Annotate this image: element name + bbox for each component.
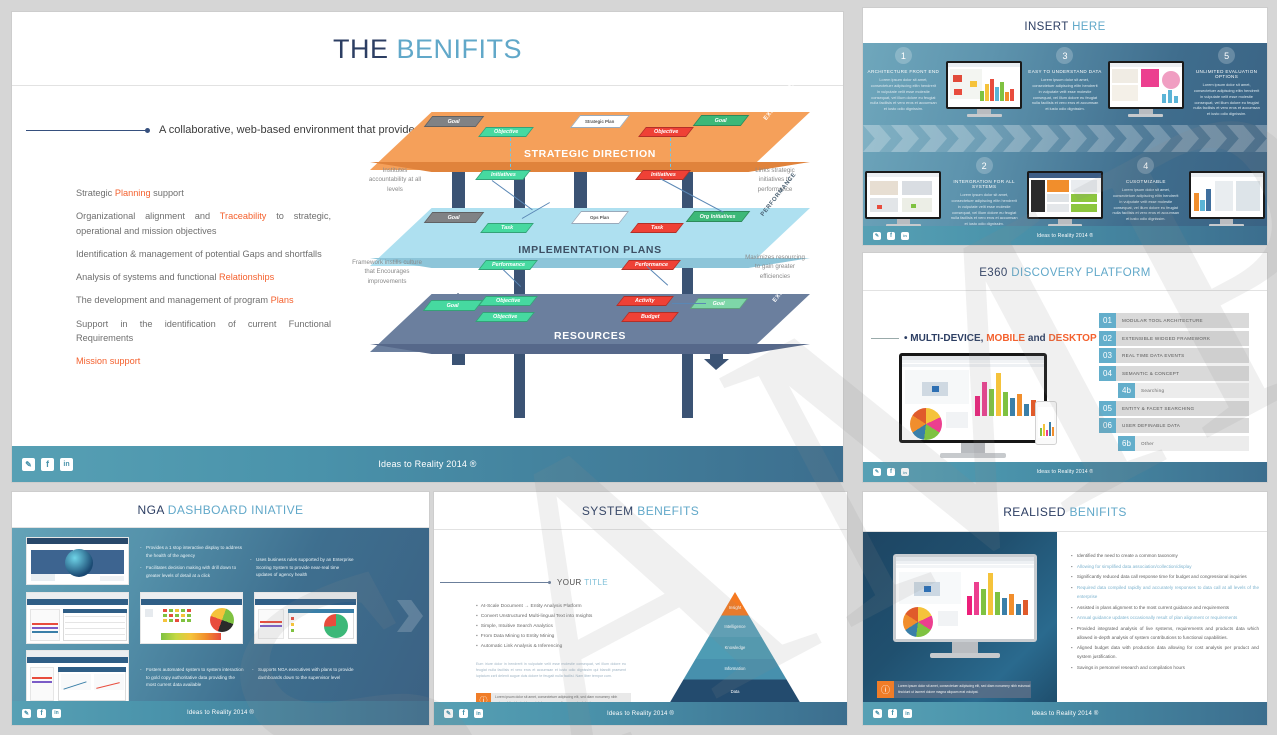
dashboard-screenshot-5 <box>26 650 129 704</box>
pyramid-label-data: Data <box>669 689 801 694</box>
footer-text: Ideas to Reality 2014 ® <box>434 711 847 717</box>
chip-initiatives-2: Initiatives <box>635 170 691 180</box>
list-item: Provides a 1 stop interactive display to… <box>140 544 242 559</box>
feature-list: 01MODULAR TOOL ARCHITECTURE 02EXTENSIBLE… <box>1099 313 1249 453</box>
chevron-icon <box>1003 125 1031 152</box>
chip-budget: Budget <box>621 312 679 322</box>
chevron-icon <box>1171 125 1199 152</box>
diagram-note-framework: Framework instills culture that Encourag… <box>350 258 424 286</box>
cell-body: Lorem ipsum dolor sit amet, consectetuer… <box>950 192 1018 227</box>
slide-insert-here[interactable]: INSERT HERE 1 ARCHITECTURE FRONT END Lor… <box>863 8 1267 245</box>
e360-body: • MULTI-DEVICE, MOBILE and DESKTOP Ready… <box>863 291 1267 479</box>
insert-cell-5: 5 UNLIMITED EVALUATION OPTIONS Lorem ips… <box>1186 43 1267 125</box>
footer-text: Ideas to Reality 2014 ® <box>863 233 1267 239</box>
lead-text: YOUR TITLE <box>557 578 608 587</box>
pyramid-label-knowledge: Knowledge <box>669 645 801 650</box>
lead-line <box>871 338 899 339</box>
step-number-badge: 3 <box>1056 47 1073 64</box>
main-slide-body: A collaborative, web-based environment t… <box>12 86 843 450</box>
list-item: Assisted in plans alignment to the most … <box>1071 604 1259 613</box>
chip-initiatives-1: Initiatives <box>475 170 531 180</box>
cell-heading: CUSOTMIZABLE <box>1126 179 1166 184</box>
system-benefits-body: YOUR TITLE At-Scale Document → Entity An… <box>434 530 847 716</box>
chevron-icon <box>1143 125 1171 152</box>
list-item[interactable]: 04SEMANTIC & CONCEPT <box>1099 366 1249 381</box>
list-item: Organizational alignment and Traceabilit… <box>76 209 331 238</box>
chip-goal-4: Goal <box>423 300 484 311</box>
list-item-sub: Allowing for simplified data association… <box>1071 563 1259 572</box>
list-item: Savings in personnel research and compil… <box>1071 664 1259 673</box>
insert-row-bottom: 2 INTERGRATION FOR ALL SYSTEMS Lorem ips… <box>863 153 1267 235</box>
callout-box: ⓘ Lorem ipsum dolor sit amet, consectetu… <box>877 681 1031 698</box>
list-item: Convert Unstructured Multi-lingual Text … <box>476 612 626 622</box>
list-item: Automatic Link Analysis & Inferencing <box>476 642 626 652</box>
slide-nga-dashboard-iniative[interactable]: NGA DASHBOARD INIATIVE Provides a 1 stop… <box>12 492 429 725</box>
strategy-tier-diagram: STRATEGIC DIRECTION EXPECTATIONS Goal Ob… <box>342 98 834 448</box>
page-title: INSERT HERE <box>863 8 1267 43</box>
page-title: THE BENIFITS <box>12 12 843 85</box>
step-number-badge: 2 <box>976 157 993 174</box>
monitor-mock-3 <box>863 153 944 235</box>
multi-device-lead: • MULTI-DEVICE, MOBILE and DESKTOP Ready… <box>871 333 1133 344</box>
insert-cell-1: 1 ARCHITECTURE FRONT END Lorem ipsum dol… <box>863 43 944 125</box>
cell-body: Lorem ipsum dolor sit amet, consectetuer… <box>1193 82 1261 117</box>
nga-body: Provides a 1 stop interactive display to… <box>12 528 429 714</box>
realised-body: ⓘ Lorem ipsum dolor sit amet, consectetu… <box>863 532 1267 714</box>
list-item-sub[interactable]: 4bSearching <box>1118 383 1249 398</box>
chip-activity: Activity <box>616 296 674 306</box>
chip-ops-plan: Ops Plan <box>571 211 629 224</box>
chevron-icon <box>863 125 891 152</box>
chevron-icon <box>1087 125 1115 152</box>
lead-line <box>440 582 548 583</box>
nga-notes-top-right: Uses business rules supported by an Ente… <box>250 556 356 584</box>
list-item-sub[interactable]: 6bOther <box>1118 436 1249 451</box>
chevron-icon <box>919 125 947 152</box>
insert-cell-4: 4 CUSOTMIZABLE Lorem ipsum dolor sit ame… <box>1105 153 1186 235</box>
pyramid-label-insight: Insight <box>669 605 801 610</box>
dashboard-screenshot-4 <box>254 592 357 644</box>
tier-3-label: RESOURCES <box>370 330 810 342</box>
dashboard-screenshot-3 <box>140 592 243 644</box>
list-item[interactable]: 02EXTENSIBLE WIDGED FRAMEWORK <box>1099 331 1249 346</box>
list-item[interactable]: 01MODULAR TOOL ARCHITECTURE <box>1099 313 1249 328</box>
slide-footer: ✎ f in Ideas to Reality 2014 ® <box>863 702 1267 725</box>
phone-mock <box>1035 401 1057 445</box>
footer-text: Ideas to Reality 2014 ® <box>12 459 843 469</box>
nga-notes-bottom-right: Supports NGA executives with plans to pr… <box>252 666 357 686</box>
nga-notes-top-left: Provides a 1 stop interactive display to… <box>140 544 242 584</box>
body-paragraph: Eum iriure dolor in hendrerit in vulputa… <box>476 661 626 679</box>
page-title: E360 DISCOVERY PLATFORM <box>863 253 1267 290</box>
list-item-sub: Required data compiled rapidly and accur… <box>1071 584 1259 601</box>
list-item: Identification & management of potential… <box>76 247 331 261</box>
dashboard-screenshot-2 <box>26 592 129 644</box>
chip-goal-2: Goal <box>693 115 750 126</box>
chip-objective-3: Objective <box>478 296 538 306</box>
chip-objective-2: Objective <box>638 127 694 137</box>
chevron-band <box>863 125 1267 152</box>
slide-realised-benifits[interactable]: REALISED BENIFITS <box>863 492 1267 725</box>
page-title: REALISED BENIFITS <box>863 492 1267 531</box>
list-item: Aligned budget data with production data… <box>1071 644 1259 661</box>
footer-text: Ideas to Reality 2014 ® <box>12 710 429 716</box>
benefits-bullet-list: At-Scale Document → Entity Analysis Plat… <box>476 602 626 652</box>
insert-cell-2: 2 INTERGRATION FOR ALL SYSTEMS Lorem ips… <box>944 153 1025 235</box>
list-item: Supports NGA executives with plans to pr… <box>252 666 357 681</box>
pyramid-label-information: Information <box>669 666 801 671</box>
diagram-note-links: Links strategic initiatives to performan… <box>742 166 808 194</box>
callout-text: Lorem ipsum dolor sit amet, consectetuer… <box>894 684 1031 694</box>
list-item[interactable]: 06USER DEFINABLE DATA <box>1099 418 1249 433</box>
dashboard-screenshot-1 <box>26 537 129 585</box>
list-item: From Data Mining to Entity Mining <box>476 632 626 642</box>
list-item: At-Scale Document → Entity Analysis Plat… <box>476 602 626 612</box>
pyramid-label-intelligence: Intelligence <box>669 624 801 629</box>
chip-org-initiatives: Org Initiatives <box>686 211 751 222</box>
slide-deck: THE BENIFITS A collaborative, web-based … <box>0 0 1277 735</box>
list-item: Strategic Planning support <box>76 186 331 200</box>
cell-heading: UNLIMITED EVALUATION OPTIONS <box>1186 69 1267 79</box>
chip-performance-1: Performance <box>478 260 538 270</box>
lead-dot <box>145 128 150 133</box>
realised-visual-panel: ⓘ Lorem ipsum dolor sit amet, consectetu… <box>863 532 1057 714</box>
dashed-connector-2 <box>670 138 671 172</box>
slide-footer: ✎ f in Ideas to Reality 2014 ® <box>12 446 843 482</box>
chevron-icon <box>1031 125 1059 152</box>
nga-notes-bottom-left: Fosters automated system to system inter… <box>140 666 245 694</box>
step-number-badge: 1 <box>895 47 912 64</box>
slide-e360-discovery-platform[interactable]: E360 DISCOVERY PLATFORM • MULTI-DEVICE, … <box>863 253 1267 482</box>
cell-heading: ARCHITECTURE FRONT END <box>868 69 940 74</box>
chip-objective-4: Objective <box>475 312 535 322</box>
monitor-mock <box>893 554 1037 658</box>
list-item[interactable]: 03REAL TIME DATA EVENTS <box>1099 348 1249 363</box>
list-item: Mission support <box>76 354 331 368</box>
monitor-mock-4 <box>1025 153 1106 235</box>
chevron-icon <box>891 125 919 152</box>
insert-row-top: 1 ARCHITECTURE FRONT END Lorem ipsum dol… <box>863 43 1267 125</box>
diagram-note-accountability: Institutes accountability at all levels <box>364 166 426 194</box>
list-item: Uses business rules supported by an Ente… <box>250 556 356 579</box>
list-item: The development and management of progra… <box>76 293 331 307</box>
insert-body: 1 ARCHITECTURE FRONT END Lorem ipsum dol… <box>863 43 1267 237</box>
tier-1-label: STRATEGIC DIRECTION <box>370 148 810 160</box>
diagram-note-maximizes: Maximizes resourcing to gain greater eff… <box>742 253 808 281</box>
cell-body: Lorem ipsum dolor sit amet, consectetuer… <box>869 77 937 112</box>
dashed-connector-1 <box>510 138 511 172</box>
chevron-icon <box>1115 125 1143 152</box>
page-title: SYSTEM BENEFITS <box>434 492 847 529</box>
chevron-icon <box>975 125 1003 152</box>
title-part-2: BENIFITS <box>397 34 523 64</box>
insert-cell-3: 3 EASY TO UNDERSTAND DATA Lorem ipsum do… <box>1025 43 1106 125</box>
chevron-icon <box>1199 125 1227 152</box>
alert-icon: ⓘ <box>877 681 894 698</box>
monitor-mock-2 <box>1105 43 1186 125</box>
list-item: Simple, Intuitive Search Analytics <box>476 622 626 632</box>
connector-line <box>492 180 533 210</box>
slide-footer: ✎ f in Ideas to Reality 2014 ® <box>863 226 1267 245</box>
cell-heading: INTERGRATION FOR ALL SYSTEMS <box>944 179 1025 189</box>
chevron-icon <box>397 600 423 632</box>
list-item[interactable]: 05ENTITY & FACET SEARCHING <box>1099 401 1249 416</box>
chip-objective: Objective <box>478 127 534 137</box>
lead-dot <box>548 581 551 584</box>
tier-3-side <box>370 344 810 354</box>
desktop-monitor-mock <box>899 353 1047 458</box>
page-title: NGA DASHBOARD INIATIVE <box>12 492 429 527</box>
benefit-list: Strategic Planning support Organizationa… <box>76 186 331 377</box>
title-part-1: THE <box>333 34 397 64</box>
list-item: Facilitates decision making with drill d… <box>140 564 242 579</box>
cell-body: Lorem ipsum dolor sit amet, consectetuer… <box>1112 187 1180 222</box>
chip-task-1: Task <box>480 223 534 233</box>
value-pyramid-chart: Insight Intelligence Knowledge Informati… <box>669 592 801 704</box>
monitor-mock-1 <box>944 43 1025 125</box>
step-number-badge: 4 <box>1137 157 1154 174</box>
footer-text: Ideas to Reality 2014 ® <box>863 469 1267 475</box>
realised-text-panel: Identified the need to create a common t… <box>1057 532 1267 714</box>
chip-strategic-plan: Strategic Plan <box>570 115 630 128</box>
list-item: Fosters automated system to system inter… <box>140 666 245 689</box>
slide-footer: ✎ f in Ideas to Reality 2014 ® <box>863 462 1267 482</box>
chevron-icon <box>947 125 975 152</box>
your-title-lead: YOUR TITLE <box>440 578 608 587</box>
slide-system-benefits[interactable]: SYSTEM BENEFITS YOUR TITLE At-Scale Docu… <box>434 492 847 725</box>
realised-bullet-list: Identified the need to create a common t… <box>1071 552 1259 675</box>
list-item: Support in the identification of current… <box>76 317 331 346</box>
chip-goal-3: Goal <box>424 212 485 223</box>
list-item: Analysis of systems and functional Relat… <box>76 270 331 284</box>
connector-line <box>672 303 706 304</box>
chip-goal: Goal <box>424 116 485 127</box>
cell-body: Lorem ipsum dolor sit amet, consectetuer… <box>1031 77 1099 112</box>
list-item: Significantly reduced data call response… <box>1071 573 1259 582</box>
slide-footer: ✎ f in Ideas to Reality 2014 ® <box>12 701 429 725</box>
chevron-icon <box>1255 125 1267 152</box>
chip-task-2: Task <box>630 223 684 233</box>
monitor-mock-5 <box>1186 153 1267 235</box>
chevron-icon <box>1227 125 1255 152</box>
cell-heading: EASY TO UNDERSTAND DATA <box>1028 69 1101 74</box>
chevron-icon <box>1059 125 1087 152</box>
footer-text: Ideas to Reality 2014 ® <box>863 711 1267 717</box>
lead-line <box>26 130 146 131</box>
slide-the-benifits[interactable]: THE BENIFITS A collaborative, web-based … <box>12 12 843 482</box>
list-item: Provided integrated analysis of live sys… <box>1071 625 1259 642</box>
list-item: Identified the need to create a common t… <box>1071 552 1259 561</box>
list-item-sub: Annual guidance updates occasionally res… <box>1071 614 1259 623</box>
slide-footer: ✎ f in Ideas to Reality 2014 ® <box>434 702 847 725</box>
step-number-badge: 5 <box>1218 47 1235 64</box>
